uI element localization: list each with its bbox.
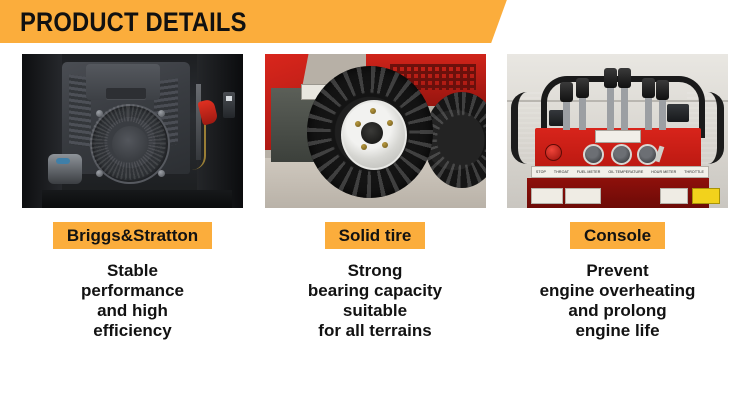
warning-sticker xyxy=(531,188,563,204)
tire-photo xyxy=(265,54,486,208)
header-banner: PRODUCT DETAILS xyxy=(0,0,750,43)
engine-nameplate xyxy=(106,88,146,99)
feature-description-engine: Stable performance and high efficiency xyxy=(81,261,184,341)
caution-sticker xyxy=(692,188,720,204)
oil-temperature-gauge xyxy=(611,144,632,165)
description-line: engine overheating xyxy=(540,281,696,301)
wheel-lug-nut xyxy=(387,120,393,126)
control-lever xyxy=(607,84,614,130)
console-label: STOP xyxy=(536,170,546,174)
console-label: THROAT xyxy=(554,170,569,174)
lever-knob xyxy=(560,82,573,102)
wheel-hub xyxy=(361,122,383,144)
engine-bay-left-wall xyxy=(22,54,62,208)
page-title: PRODUCT DETAILS xyxy=(20,4,247,40)
feature-card-tire: Solid tire Strong bearing capacity suita… xyxy=(265,54,486,341)
description-line: performance xyxy=(81,281,184,301)
description-line: Prevent xyxy=(540,261,696,281)
description-line: suitable xyxy=(308,301,442,321)
engine-bolt xyxy=(158,170,165,177)
control-lever xyxy=(621,84,628,130)
description-line: for all terrains xyxy=(308,321,442,341)
wheel-lug-nut xyxy=(355,121,361,127)
wheel-lug-nut xyxy=(382,142,388,148)
control-lever xyxy=(645,94,652,130)
description-line: Strong xyxy=(308,261,442,281)
feature-badge-engine: Briggs&Stratton xyxy=(53,222,212,249)
warning-sticker xyxy=(565,188,601,204)
control-lever xyxy=(579,94,586,130)
wheel-lug-nut xyxy=(370,108,376,114)
engine-mount-base xyxy=(42,190,232,208)
description-line: Stable xyxy=(81,261,184,281)
feature-card-console: STOP THROAT FUEL METER OIL TEMPERATURE H… xyxy=(507,54,728,341)
console-label: HOUR METER xyxy=(651,170,676,174)
control-lever xyxy=(563,98,570,130)
fuel-meter-gauge xyxy=(583,144,604,165)
hour-meter-gauge xyxy=(637,144,658,165)
lever-knob xyxy=(656,80,669,100)
engine-fuel-filter-canister xyxy=(48,154,82,184)
engine-control-rod xyxy=(196,84,201,160)
engine-switch-panel xyxy=(223,92,235,118)
engine-wiring-harness xyxy=(182,124,206,170)
feature-card-engine: Briggs&Stratton Stable performance and h… xyxy=(22,54,243,341)
console-label: THROTTLE xyxy=(684,170,704,174)
feature-card-grid: Briggs&Stratton Stable performance and h… xyxy=(0,54,750,341)
lever-knob xyxy=(618,68,631,88)
console-label-strip: STOP THROAT FUEL METER OIL TEMPERATURE H… xyxy=(531,166,709,178)
console-label: FUEL METER xyxy=(577,170,601,174)
console-box-right xyxy=(667,104,689,122)
wheel-lug-nut xyxy=(361,144,367,150)
engine-bolt xyxy=(158,110,165,117)
emergency-stop-button-icon xyxy=(545,144,562,161)
feature-badge-tire: Solid tire xyxy=(325,222,426,249)
feature-description-console: Prevent engine overheating and prolong e… xyxy=(540,261,696,341)
engine-bolt xyxy=(96,110,103,117)
description-line: and prolong xyxy=(540,301,696,321)
warning-sticker xyxy=(660,188,688,204)
engine-bolt xyxy=(96,170,103,177)
description-line: and high xyxy=(81,301,184,321)
feature-description-tire: Strong bearing capacity suitable for all… xyxy=(308,261,442,341)
lever-knob xyxy=(642,78,655,98)
console-photo: STOP THROAT FUEL METER OIL TEMPERATURE H… xyxy=(507,54,728,208)
engine-photo xyxy=(22,54,243,208)
description-line: engine life xyxy=(540,321,696,341)
control-lever xyxy=(659,96,666,130)
console-info-plate xyxy=(595,130,641,143)
feature-badge-console: Console xyxy=(570,222,665,249)
console-label: OIL TEMPERATURE xyxy=(608,170,643,174)
lever-knob xyxy=(576,78,589,98)
description-line: efficiency xyxy=(81,321,184,341)
lever-knob xyxy=(604,68,617,88)
description-line: bearing capacity xyxy=(308,281,442,301)
